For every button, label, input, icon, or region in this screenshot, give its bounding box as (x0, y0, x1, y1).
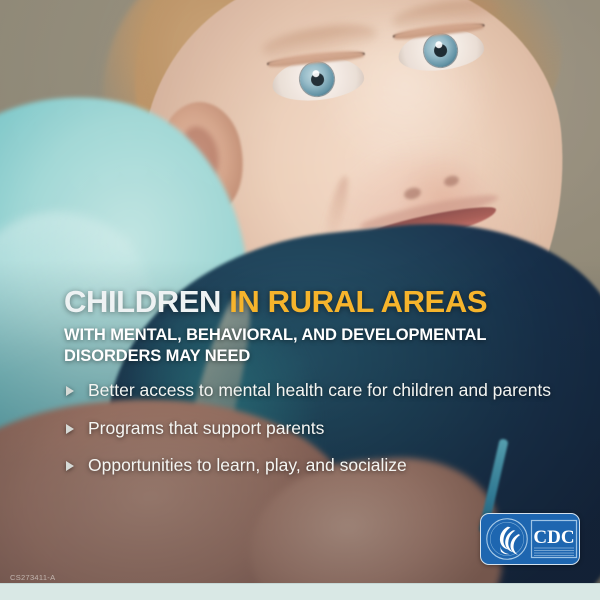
list-item-label: Programs that support parents (88, 418, 324, 438)
needs-list: Better access to mental health care for … (64, 380, 574, 476)
triangle-right-icon (66, 386, 74, 396)
cdc-infographic-poster: CHILDREN IN RURAL AREAS WITH MENTAL, BEH… (0, 0, 600, 600)
bottom-strip (0, 583, 600, 600)
headline-part-gold: IN RURAL AREAS (229, 284, 487, 319)
copy-block: CHILDREN IN RURAL AREAS WITH MENTAL, BEH… (64, 286, 574, 476)
svg-text:CDC: CDC (533, 527, 574, 548)
subheadline: WITH MENTAL, BEHAVIORAL, AND DEVELOPMENT… (64, 325, 559, 366)
cdc-hhs-logo[interactable]: CDC (480, 513, 580, 565)
list-item-label: Better access to mental health care for … (88, 380, 551, 400)
headline-part-white: CHILDREN (64, 284, 221, 319)
cs-publication-code: CS273411-A (10, 573, 55, 582)
list-item: Programs that support parents (64, 418, 554, 439)
cdc-wordmark-icon: CDC (530, 519, 578, 559)
subheadline-line-1: WITH MENTAL, BEHAVIORAL, AND DEVELOPMENT… (64, 325, 559, 346)
list-item: Better access to mental health care for … (64, 380, 554, 401)
triangle-right-icon (66, 424, 74, 434)
list-item: Opportunities to learn, play, and social… (64, 455, 554, 476)
page-title: CHILDREN IN RURAL AREAS (64, 286, 574, 318)
subheadline-line-2: DISORDERS MAY NEED (64, 346, 559, 367)
list-item-label: Opportunities to learn, play, and social… (88, 455, 407, 475)
hhs-seal-icon (485, 517, 529, 561)
triangle-right-icon (66, 461, 74, 471)
